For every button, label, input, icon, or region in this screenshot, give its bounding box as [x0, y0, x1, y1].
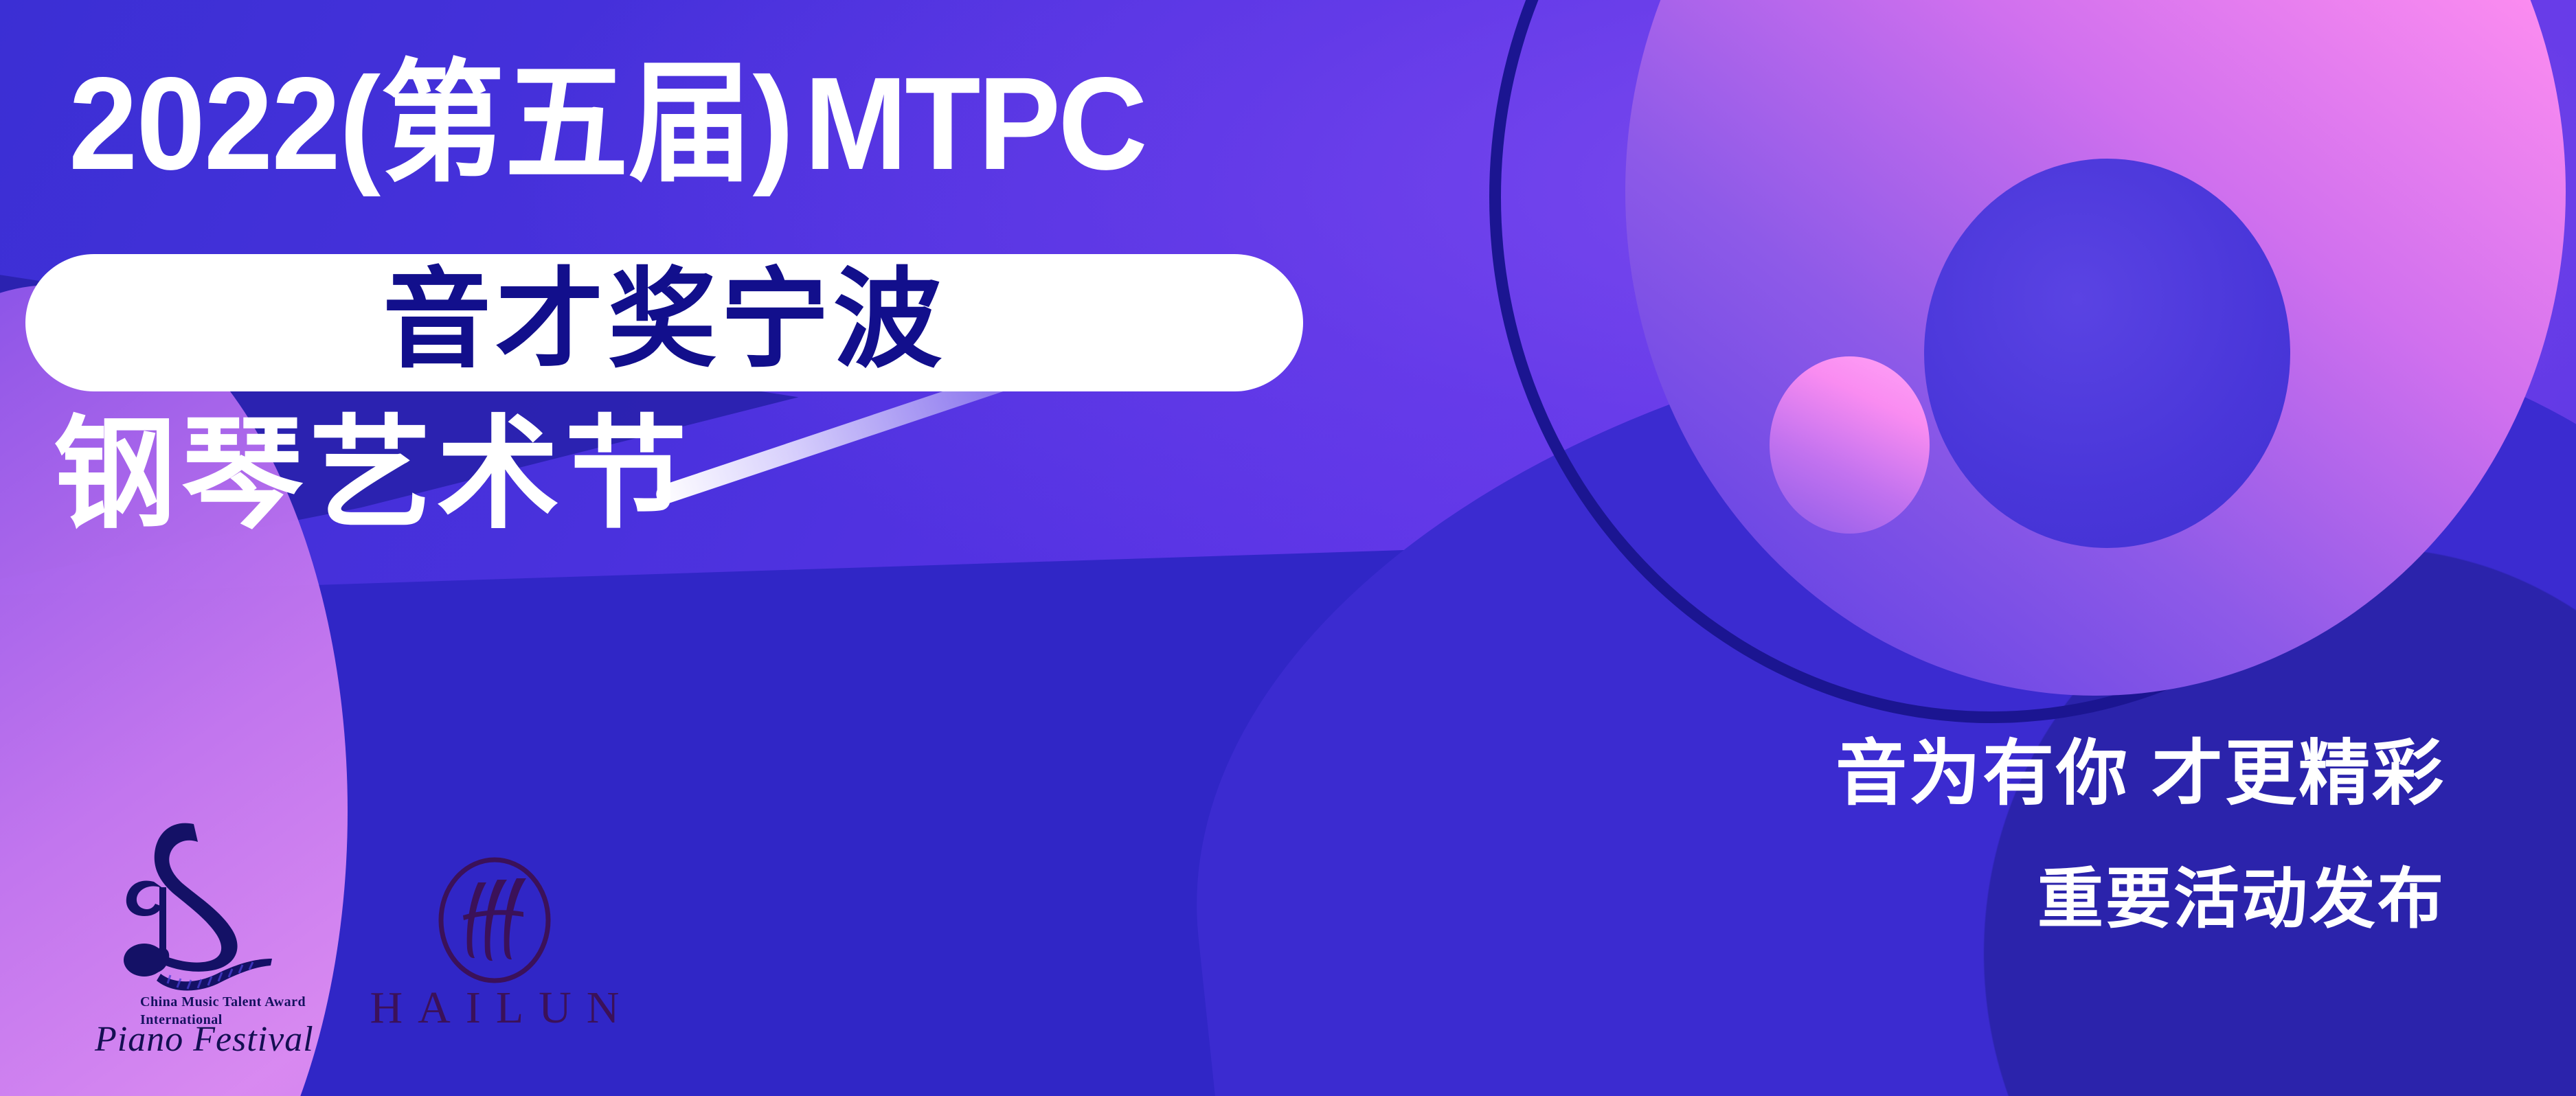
banner-headline: 2022(第五届)MTPC: [69, 58, 1145, 190]
pill-title-text: 音才奖宁波: [383, 266, 946, 374]
banner-subtitle: 钢琴艺术节: [54, 413, 692, 536]
headline-year: 2022: [69, 49, 339, 197]
caption-line-1: China Music Talent Award: [140, 994, 306, 1010]
slogan-secondary: 重要活动发布: [2037, 867, 2445, 933]
grand-piano-note-icon: [91, 819, 297, 1004]
banner-content: 2022(第五届)MTPC 音才奖宁波 钢琴艺术节 音为有你 才更精彩 重要活动…: [0, 0, 2576, 1096]
headline-acronym: MTPC: [804, 49, 1145, 197]
hailun-wordmark: HAILUN: [350, 982, 639, 1034]
headline-edition: (第五届): [339, 49, 794, 197]
event-banner: 2022(第五届)MTPC 音才奖宁波 钢琴艺术节 音为有你 才更精彩 重要活动…: [0, 0, 2576, 1096]
title-pill: 音才奖宁波: [25, 254, 1303, 391]
caption-line-3: Piano Festival: [95, 1019, 314, 1060]
piano-festival-caption: China Music Talent Award International P…: [91, 990, 324, 1073]
hailun-monogram-icon: [350, 855, 639, 985]
piano-festival-logo: China Music Talent Award International P…: [91, 819, 317, 1086]
slogan-primary: 音为有你 才更精彩: [1835, 738, 2445, 810]
hailun-logo: HAILUN: [350, 855, 639, 1082]
